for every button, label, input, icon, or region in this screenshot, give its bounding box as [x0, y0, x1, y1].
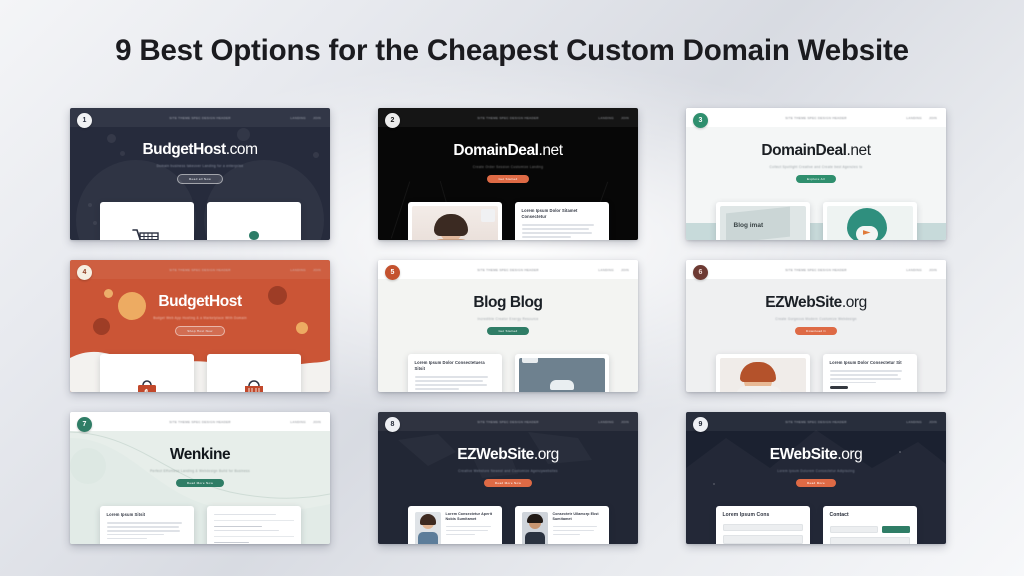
hero-section: Wenkine Perfect Effortless Landing & Web…	[70, 431, 330, 503]
panel-row: Lorem Ipsum Dolor Sitamet Consectetur	[378, 202, 638, 240]
divider	[214, 520, 294, 521]
panel-tote-bag[interactable]	[207, 354, 301, 392]
site-nav[interactable]: SITE THEME SPEC DESIGN HEADER LANDING JO…	[70, 260, 330, 279]
hero-tagline: Lorem Ipsum Dolorem Consectetur Adipisci…	[777, 469, 854, 473]
site-nav[interactable]: SITE THEME SPEC DESIGN HEADER LANDING JO…	[378, 108, 638, 127]
nav-link-1[interactable]: LANDING	[906, 268, 922, 272]
nav-link-1[interactable]: LANDING	[598, 420, 614, 424]
hero-tagline: Perfect Effortless Landing & Webdesign B…	[150, 469, 250, 473]
panel-article-text[interactable]: Lorem Ipsum Sitsit	[100, 506, 194, 544]
sketch-label: Blog imat	[734, 222, 764, 229]
nav-link-1[interactable]: LANDING	[598, 268, 614, 272]
skeleton-line	[830, 370, 903, 371]
contact-message-input[interactable]	[830, 537, 910, 545]
skeleton-line	[522, 232, 592, 233]
hero-brand-title: BudgetHost	[158, 294, 241, 310]
photo-frame	[412, 206, 498, 240]
skeleton-line	[553, 526, 597, 527]
nav-center-label: SITE THEME SPEC DESIGN HEADER	[169, 268, 231, 272]
card-screen: SITE THEME SPEC DESIGN HEADER LANDING JO…	[686, 412, 946, 544]
hero-cta-button[interactable]: Read More Now	[176, 479, 224, 487]
tote-bag-icon	[241, 378, 267, 392]
panel-row: Lorem Ipsum Dolor Consectetuera Sitsit	[378, 354, 638, 392]
profile-text: Lorem Consectetur Aperit Nobis Sumitamet	[446, 512, 495, 544]
nav-links[interactable]: LANDING JOIN	[598, 420, 629, 424]
photo-body	[736, 386, 782, 392]
panel-heading: Lorem Ipsum Dolor Sitamet Consectetur	[522, 208, 602, 220]
divider	[214, 536, 294, 537]
hero-tagline: Create Order Session Customize Landing	[473, 165, 543, 169]
skeleton-line	[446, 534, 475, 535]
sketch-frame: Blog imat	[720, 206, 806, 240]
panel-heading: Lorem Ipsum Sitsit	[107, 512, 187, 518]
nav-center-label: SITE THEME SPEC DESIGN HEADER	[477, 116, 539, 120]
hero-brand-title: DomainDeal.net	[453, 143, 562, 159]
photo-frame	[720, 358, 806, 392]
website-card-5[interactable]: SITE THEME SPEC DESIGN HEADER LANDING JO…	[378, 260, 638, 392]
nav-links[interactable]: LANDING JOIN	[290, 116, 321, 120]
nav-center-label: SITE THEME SPEC DESIGN HEADER	[785, 268, 847, 272]
panel-portrait-photo[interactable]	[716, 354, 810, 392]
hero-tagline: Domain business takeover Landing for a e…	[157, 164, 244, 168]
website-card-8[interactable]: SITE THEME SPEC DESIGN HEADER LANDING JO…	[378, 412, 638, 544]
nav-link-2[interactable]: JOIN	[929, 116, 937, 120]
page-title: 9 Best Options for the Cheapest Custom D…	[0, 34, 1024, 68]
photo-body	[525, 532, 545, 544]
profile-photo	[415, 512, 441, 544]
site-nav[interactable]: SITE THEME SPEC DESIGN HEADER LANDING JO…	[378, 412, 638, 431]
photo-hair	[740, 362, 776, 382]
panel-heading: Lorem Consectetur Aperit Nobis Sumitamet	[446, 512, 495, 523]
card-screen: SITE THEME SPEC DESIGN HEADER LANDING JO…	[378, 260, 638, 392]
hero-section: DomainDeal.net Create Order Session Cust…	[378, 127, 638, 199]
nav-link-1[interactable]: LANDING	[598, 116, 614, 120]
site-nav[interactable]: SITE THEME SPEC DESIGN HEADER LANDING JO…	[70, 412, 330, 431]
hero-brand-title: EZWebSite.org	[457, 447, 559, 463]
photo-body	[418, 532, 438, 544]
hero-section: BudgetHost Budget Web App Hosting & a Ma…	[70, 279, 330, 351]
website-card-3[interactable]: SITE THEME SPEC DESIGN HEADER LANDING JO…	[686, 108, 946, 240]
website-card-9[interactable]: SITE THEME SPEC DESIGN HEADER LANDING JO…	[686, 412, 946, 544]
hero-brand-title: BudgetHost.com	[142, 142, 257, 158]
rank-badge: 6	[693, 265, 708, 280]
hero-tagline: Create Gorgeous Modern Customize Webdesi…	[775, 317, 856, 321]
website-card-2[interactable]: SITE THEME SPEC DESIGN HEADER LANDING JO…	[378, 108, 638, 240]
hero-section: EWebSite.org Lorem Ipsum Dolorem Consect…	[686, 431, 946, 503]
rank-badge: 5	[385, 265, 400, 280]
hero-section: BudgetHost.com Domain business takeover …	[70, 127, 330, 199]
panel-article-text[interactable]: Lorem Ipsum Dolor Consectetur Sit	[823, 354, 917, 392]
illustration-frame	[519, 358, 605, 392]
site-nav[interactable]: SITE THEME SPEC DESIGN HEADER LANDING JO…	[686, 260, 946, 279]
nav-links[interactable]: LANDING JOIN	[290, 420, 321, 424]
hero-cta-button[interactable]: Explore All	[796, 175, 836, 183]
panel-cart-plant[interactable]	[207, 202, 301, 240]
nav-link-1[interactable]: LANDING	[906, 116, 922, 120]
hero-section: DomainDeal.net Collect Spotlight Creativ…	[686, 127, 946, 199]
nav-center-label: SITE THEME SPEC DESIGN HEADER	[169, 420, 231, 424]
panel-heading: Consectetr Ullamcrp Ekst Sumitamet	[553, 512, 602, 523]
panel-contact-form[interactable]: Contact	[823, 506, 917, 544]
skeleton-line	[553, 534, 580, 535]
illustration-shape-top	[550, 380, 574, 390]
skeleton-line	[415, 376, 489, 377]
skeleton-line	[830, 382, 876, 383]
hero-cta-button[interactable]: Read all Now	[177, 174, 223, 184]
panel-form-list[interactable]	[207, 506, 301, 544]
nav-link-2[interactable]: JOIN	[929, 420, 937, 424]
panel-portrait-photo[interactable]	[408, 202, 502, 240]
panel-row: Blog imat	[686, 202, 946, 240]
site-nav[interactable]: SITE THEME SPEC DESIGN HEADER LANDING JO…	[378, 260, 638, 279]
panel-article-text[interactable]: Lorem Ipsum Dolor Consectetuera Sitsit	[408, 354, 502, 392]
panel-heading: Lorem Ipsum Dolor Consectetuera Sitsit	[415, 360, 495, 372]
skeleton-line	[446, 526, 491, 527]
card-screen: SITE THEME SPEC DESIGN HEADER LANDING JO…	[686, 260, 946, 392]
nav-link-2[interactable]: JOIN	[621, 268, 629, 272]
photo-hair	[420, 514, 436, 525]
hero-tagline: Incredible Creator Energy Resource	[477, 317, 538, 321]
cart-plant-icon	[239, 228, 269, 240]
skeleton-line	[553, 530, 594, 531]
skeleton-line	[107, 534, 165, 535]
nav-link-2[interactable]: JOIN	[313, 116, 321, 120]
hero-tagline: Budget Web App Hosting & a Marketplace W…	[153, 316, 247, 320]
nav-center-label: SITE THEME SPEC DESIGN HEADER	[785, 116, 847, 120]
skeleton-line	[415, 384, 487, 385]
illustration-frame	[827, 206, 913, 240]
nav-link-2[interactable]: JOIN	[313, 420, 321, 424]
skeleton-line	[446, 530, 488, 531]
skeleton-line	[522, 224, 594, 225]
panel-profile-card[interactable]: Consectetr Ullamcrp Ekst Sumitamet	[515, 506, 609, 544]
nav-links[interactable]: LANDING JOIN	[906, 420, 937, 424]
shopping-cart-icon	[132, 228, 162, 240]
nav-link-2[interactable]: JOIN	[621, 116, 629, 120]
hero-section: Blog Blog Incredible Creator Energy Reso…	[378, 279, 638, 351]
hero-cta-button[interactable]: Read More Now	[484, 479, 532, 487]
hero-brand-title: Blog Blog	[473, 295, 542, 311]
hero-cta-button[interactable]: Get Started	[487, 327, 528, 335]
hero-brand-title: EZWebSite.org	[765, 295, 867, 311]
website-card-1[interactable]: SITE THEME SPEC DESIGN HEADER LANDING JO…	[70, 108, 330, 240]
contact-row	[830, 522, 910, 533]
skeleton-line	[830, 378, 901, 379]
rank-badge: 8	[385, 417, 400, 432]
skeleton-line	[214, 526, 262, 527]
skeleton-line	[830, 374, 898, 375]
card-screen: SITE THEME SPEC DESIGN HEADER LANDING JO…	[70, 108, 330, 240]
website-card-7[interactable]: SITE THEME SPEC DESIGN HEADER LANDING JO…	[70, 412, 330, 544]
photo-badge	[481, 209, 495, 222]
site-nav[interactable]: SITE THEME SPEC DESIGN HEADER LANDING JO…	[686, 108, 946, 127]
card-screen: SITE THEME SPEC DESIGN HEADER LANDING JO…	[70, 260, 330, 392]
panel-shopping-cart[interactable]	[100, 202, 194, 240]
rank-badge: 7	[77, 417, 92, 432]
skeleton-line	[107, 522, 182, 523]
site-nav[interactable]: SITE THEME SPEC DESIGN HEADER LANDING JO…	[686, 412, 946, 431]
panel-shopping-bag[interactable]	[100, 354, 194, 392]
skeleton-line	[522, 236, 572, 237]
hero-brand-title: EWebSite.org	[770, 447, 863, 463]
contact-input[interactable]	[830, 526, 878, 533]
panel-row	[70, 354, 330, 392]
website-thumbnail-grid: SITE THEME SPEC DESIGN HEADER LANDING JO…	[70, 108, 954, 544]
card-screen: SITE THEME SPEC DESIGN HEADER LANDING JO…	[70, 412, 330, 544]
nav-links[interactable]: LANDING JOIN	[598, 268, 629, 272]
rank-badge: 3	[693, 113, 708, 128]
skeleton-line	[415, 380, 484, 381]
nav-links[interactable]: LANDING JOIN	[598, 116, 629, 120]
photo-hair	[434, 214, 468, 236]
panel-row: Lorem Consectetur Aperit Nobis Sumitamet…	[378, 506, 638, 544]
hero-brand-title: Wenkine	[170, 447, 230, 463]
nav-center-label: SITE THEME SPEC DESIGN HEADER	[169, 116, 231, 120]
shopping-bag-icon	[134, 378, 160, 392]
panel-chip[interactable]	[830, 386, 848, 389]
card-screen: SITE THEME SPEC DESIGN HEADER LANDING JO…	[378, 412, 638, 544]
message-input[interactable]	[723, 535, 803, 544]
site-nav[interactable]: SITE THEME SPEC DESIGN HEADER LANDING JO…	[70, 108, 330, 127]
panel-article-text[interactable]: Lorem Ipsum Dolor Sitamet Consectetur	[515, 202, 609, 240]
panel-slate-illustration[interactable]	[515, 354, 609, 392]
card-screen: SITE THEME SPEC DESIGN HEADER LANDING JO…	[686, 108, 946, 240]
website-card-6[interactable]: SITE THEME SPEC DESIGN HEADER LANDING JO…	[686, 260, 946, 392]
nav-link-2[interactable]: JOIN	[313, 268, 321, 272]
hero-cta-button[interactable]: Shop Host Now	[175, 326, 224, 336]
nav-link-1[interactable]: LANDING	[290, 268, 306, 272]
panel-signup-form[interactable]: Lorem Ipsum Cons	[716, 506, 810, 544]
photo-hair	[527, 514, 543, 523]
hero-cta-button[interactable]: Download It	[795, 327, 837, 335]
nav-links[interactable]: LANDING JOIN	[906, 268, 937, 272]
nav-link-2[interactable]: JOIN	[621, 420, 629, 424]
panel-teal-illustration[interactable]	[823, 202, 917, 240]
skeleton-line	[107, 526, 179, 527]
rank-badge: 2	[385, 113, 400, 128]
nav-center-label: SITE THEME SPEC DESIGN HEADER	[477, 420, 539, 424]
nav-links[interactable]: LANDING JOIN	[906, 116, 937, 120]
email-input[interactable]	[723, 524, 803, 531]
skeleton-line	[415, 388, 459, 389]
skeleton-line	[214, 542, 249, 543]
nav-link-2[interactable]: JOIN	[929, 268, 937, 272]
hero-section: EZWebSite.org Create Gorgeous Modern Cus…	[686, 279, 946, 351]
hero-tagline: Creative Webstore Newest and Customize A…	[458, 469, 558, 473]
skeleton-line	[107, 538, 147, 539]
website-card-4[interactable]: SITE THEME SPEC DESIGN HEADER LANDING JO…	[70, 260, 330, 392]
nav-links[interactable]: LANDING JOIN	[290, 268, 321, 272]
profile-photo	[522, 512, 548, 544]
nav-link-1[interactable]: LANDING	[290, 116, 306, 120]
illustration-tab	[522, 358, 538, 363]
rank-badge: 4	[77, 265, 92, 280]
skeleton-line	[214, 514, 276, 515]
skeleton-line	[522, 228, 589, 229]
panel-row: Lorem Ipsum Sitsit	[70, 506, 330, 544]
rank-badge: 1	[77, 113, 92, 128]
panel-heading: Lorem Ipsum Cons	[723, 512, 803, 520]
skeleton-line	[107, 530, 181, 531]
panel-row: Lorem Ipsum Dolor Consectetur Sit	[686, 354, 946, 392]
hero-cta-button[interactable]: Read More	[796, 479, 836, 487]
rank-badge: 9	[693, 417, 708, 432]
card-screen: SITE THEME SPEC DESIGN HEADER LANDING JO…	[378, 108, 638, 240]
panel-blog-sketch[interactable]: Blog imat	[716, 202, 810, 240]
panel-heading: Lorem Ipsum Dolor Consectetur Sit	[830, 360, 910, 366]
hero-tagline: Collect Spotlight Creative and Create be…	[770, 165, 863, 169]
panel-row	[70, 202, 330, 240]
nav-center-label: SITE THEME SPEC DESIGN HEADER	[477, 268, 539, 272]
nav-center-label: SITE THEME SPEC DESIGN HEADER	[785, 420, 847, 424]
hero-cta-button[interactable]: Get Started	[487, 175, 528, 183]
subscribe-button[interactable]	[882, 526, 910, 533]
hero-brand-title: DomainDeal.net	[761, 143, 870, 159]
nav-link-1[interactable]: LANDING	[290, 420, 306, 424]
profile-text: Consectetr Ullamcrp Ekst Sumitamet	[553, 512, 602, 544]
panel-heading: Contact	[830, 512, 910, 520]
panel-profile-card[interactable]: Lorem Consectetur Aperit Nobis Sumitamet	[408, 506, 502, 544]
panel-row: Lorem Ipsum Cons Contact	[686, 506, 946, 544]
hero-section: EZWebSite.org Creative Webstore Newest a…	[378, 431, 638, 503]
nav-link-1[interactable]: LANDING	[906, 420, 922, 424]
skeleton-line	[214, 530, 280, 531]
photo-body	[431, 239, 471, 240]
